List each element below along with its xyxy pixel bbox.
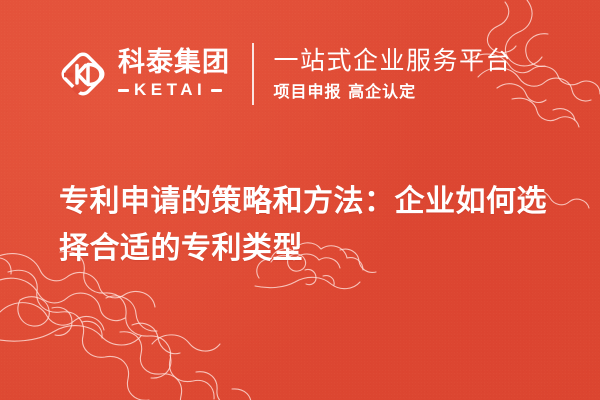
brand-logo-lockup: 科泰集团 KETAI [58, 48, 230, 100]
brand-wordmark: 科泰集团 KETAI [118, 48, 230, 100]
brand-name-cn: 科泰集团 [118, 48, 230, 77]
ketai-diamond-monogram-icon [58, 49, 108, 99]
tagline-secondary: 项目申报 高企认定 [274, 81, 513, 103]
article-cover-banner: 科泰集团 KETAI 一站式企业服务平台 项目申报 高企认定 专利申请的策略和方… [0, 0, 600, 400]
tagline-primary: 一站式企业服务平台 [274, 46, 513, 76]
brand-name-en-row: KETAI [118, 80, 230, 100]
brand-name-en: KETAI [134, 80, 206, 100]
brand-rule-right [211, 89, 222, 92]
banner-header: 科泰集团 KETAI 一站式企业服务平台 项目申报 高企认定 [58, 38, 512, 110]
brand-rule-left [118, 89, 129, 92]
header-divider [252, 43, 254, 105]
article-title: 专利申请的策略和方法：企业如何选择合适的专利类型 [59, 178, 554, 272]
tagline-block: 一站式企业服务平台 项目申报 高企认定 [274, 46, 513, 103]
